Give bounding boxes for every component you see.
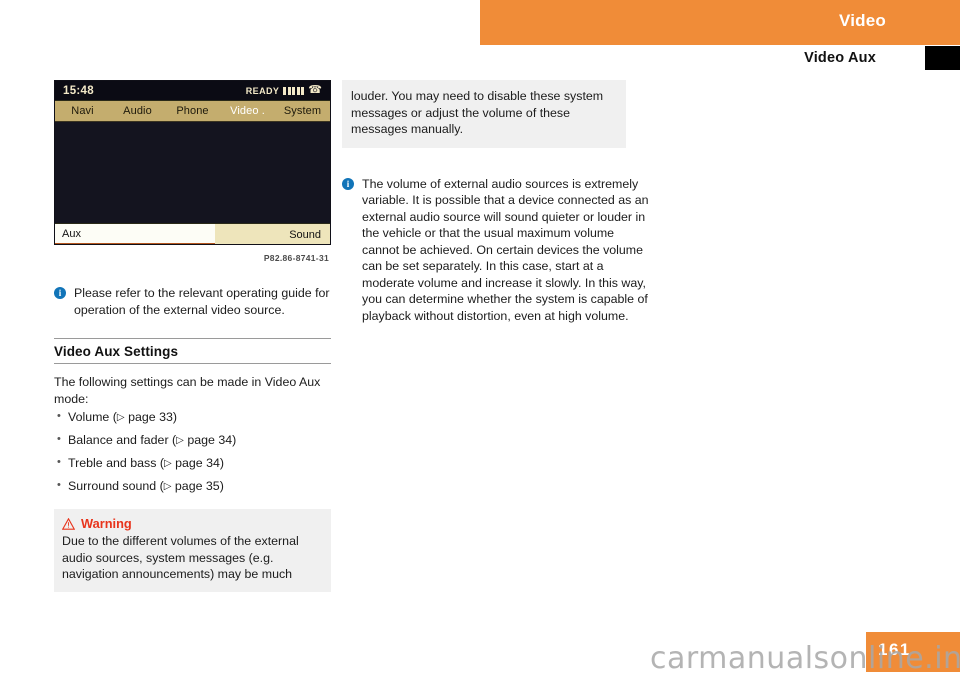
lcd-softkey-sound[interactable]: Sound: [215, 224, 331, 245]
bullet-xref[interactable]: page 35: [175, 479, 220, 493]
list-item: Volume (▷ page 33): [54, 409, 331, 426]
site-watermark: carmanualsonline.info: [650, 641, 960, 676]
lcd-menu-item-video[interactable]: Video: [220, 105, 275, 117]
right-column: louder. You may need to disable these sy…: [342, 80, 619, 324]
lcd-ready-label: READY: [246, 86, 280, 96]
bullet-close: ): [173, 410, 177, 424]
note-external-audio-volume: i The volume of external audio sources i…: [342, 176, 650, 325]
lcd-status-bar: 15:48 READY ☎: [55, 81, 330, 101]
section-title: Video Aux: [804, 50, 876, 66]
figure-caption: P82.86-8741-31: [54, 253, 331, 263]
note-external-audio-volume-text: The volume of external audio sources is …: [362, 177, 649, 323]
xref-arrow-icon: ▷: [117, 412, 125, 423]
signal-bars-icon: [283, 87, 304, 95]
lcd-video-display-area: [55, 122, 330, 223]
bullet-label: Treble and bass (: [68, 456, 164, 470]
warning-callout: Warning Due to the different volumes of …: [54, 509, 331, 592]
settings-bullet-list: Volume (▷ page 33) Balance and fader (▷ …: [54, 409, 331, 495]
info-icon: i: [342, 178, 354, 190]
warning-text: Due to the different volumes of the exte…: [62, 533, 323, 583]
lcd-clock: 15:48: [63, 85, 94, 97]
lcd-softkey-row: Aux Sound: [55, 223, 330, 245]
lcd-menu-item-audio[interactable]: Audio: [110, 105, 165, 117]
lcd-screen: 15:48 READY ☎ Navi Audio Phone Video Sys…: [54, 80, 331, 245]
heading-wrap: Video Aux Settings: [54, 338, 331, 364]
page-body: 15:48 READY ☎ Navi Audio Phone Video Sys…: [0, 80, 960, 640]
phone-handset-icon: ☎: [308, 85, 322, 96]
bullet-xref[interactable]: page 33: [128, 410, 173, 424]
page-section-heading: Video Aux Settings: [54, 338, 331, 364]
xref-arrow-icon: ▷: [176, 435, 184, 446]
list-item: Balance and fader (▷ page 34): [54, 432, 331, 449]
lcd-menu-item-phone[interactable]: Phone: [165, 105, 220, 117]
lcd-menu-item-navi[interactable]: Navi: [55, 105, 110, 117]
note-video-source-text: Please refer to the relevant operating g…: [74, 286, 330, 317]
header-orange-band: [480, 0, 960, 45]
note-video-source: i Please refer to the relevant operating…: [54, 285, 331, 318]
xref-arrow-icon: ▷: [164, 481, 172, 492]
intro-paragraph: The following settings can be made in Vi…: [54, 374, 331, 407]
list-item: Surround sound (▷ page 35): [54, 478, 331, 495]
bullet-close: ): [220, 479, 224, 493]
section-tab-marker: [925, 46, 960, 70]
warning-title: Warning: [81, 516, 132, 531]
warning-title-row: Warning: [62, 516, 323, 531]
list-item: Treble and bass (▷ page 34): [54, 455, 331, 472]
info-icon: i: [54, 287, 66, 299]
bullet-xref[interactable]: page 34: [175, 456, 220, 470]
bullet-close: ): [220, 456, 224, 470]
xref-arrow-icon: ▷: [164, 458, 172, 469]
lcd-figure: 15:48 READY ☎ Navi Audio Phone Video Sys…: [54, 80, 331, 263]
warning-triangle-icon: [62, 518, 75, 530]
lcd-softkey-aux[interactable]: Aux: [55, 224, 215, 245]
lcd-menu-item-system[interactable]: System: [275, 105, 330, 117]
chapter-title: Video: [839, 11, 886, 31]
bullet-close: ): [232, 433, 236, 447]
bullet-label: Balance and fader (: [68, 433, 176, 447]
warning-continuation-box: louder. You may need to disable these sy…: [342, 80, 626, 148]
lcd-status-indicators: READY ☎: [246, 85, 322, 96]
header-section-row: [480, 45, 960, 71]
lcd-menu-bar: Navi Audio Phone Video System: [55, 101, 330, 122]
bullet-xref[interactable]: page 34: [187, 433, 232, 447]
left-column: 15:48 READY ☎ Navi Audio Phone Video Sys…: [54, 80, 331, 592]
bullet-label: Surround sound (: [68, 479, 164, 493]
bullet-label: Volume (: [68, 410, 117, 424]
